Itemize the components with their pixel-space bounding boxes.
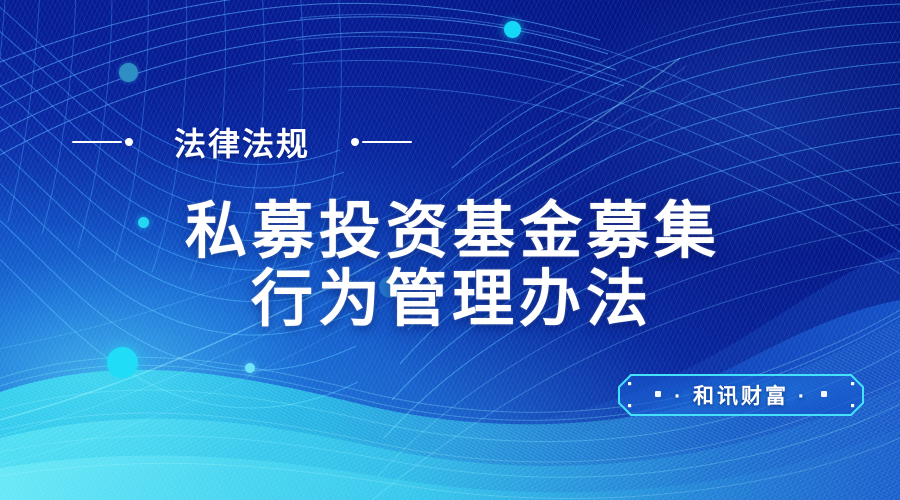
decor-dot-cyan-mid — [138, 217, 149, 228]
decor-dot-left — [125, 138, 133, 146]
category-row-inner: 法律法规 — [72, 119, 412, 165]
decor-dot-blue-title — [379, 276, 401, 298]
decor-line-right — [362, 141, 412, 143]
decor-dot-cyan-small — [245, 363, 255, 373]
banner-canvas: 法律法规 私募投资基金募集 行为管理办法 — [0, 0, 900, 500]
decor-line-left — [72, 141, 122, 143]
category-label: 法律法规 — [174, 119, 310, 165]
brand-badge[interactable]: · 和讯财富 · — [618, 374, 864, 416]
decor-dot-cyan-large — [107, 347, 138, 378]
brand-badge-label: · 和讯财富 · — [618, 374, 864, 416]
decor-dot-teal-topleft — [119, 63, 138, 82]
decor-dot-cyan-top — [504, 21, 521, 38]
decor-dot-right — [351, 138, 359, 146]
category-row: 法律法规 — [0, 119, 900, 165]
